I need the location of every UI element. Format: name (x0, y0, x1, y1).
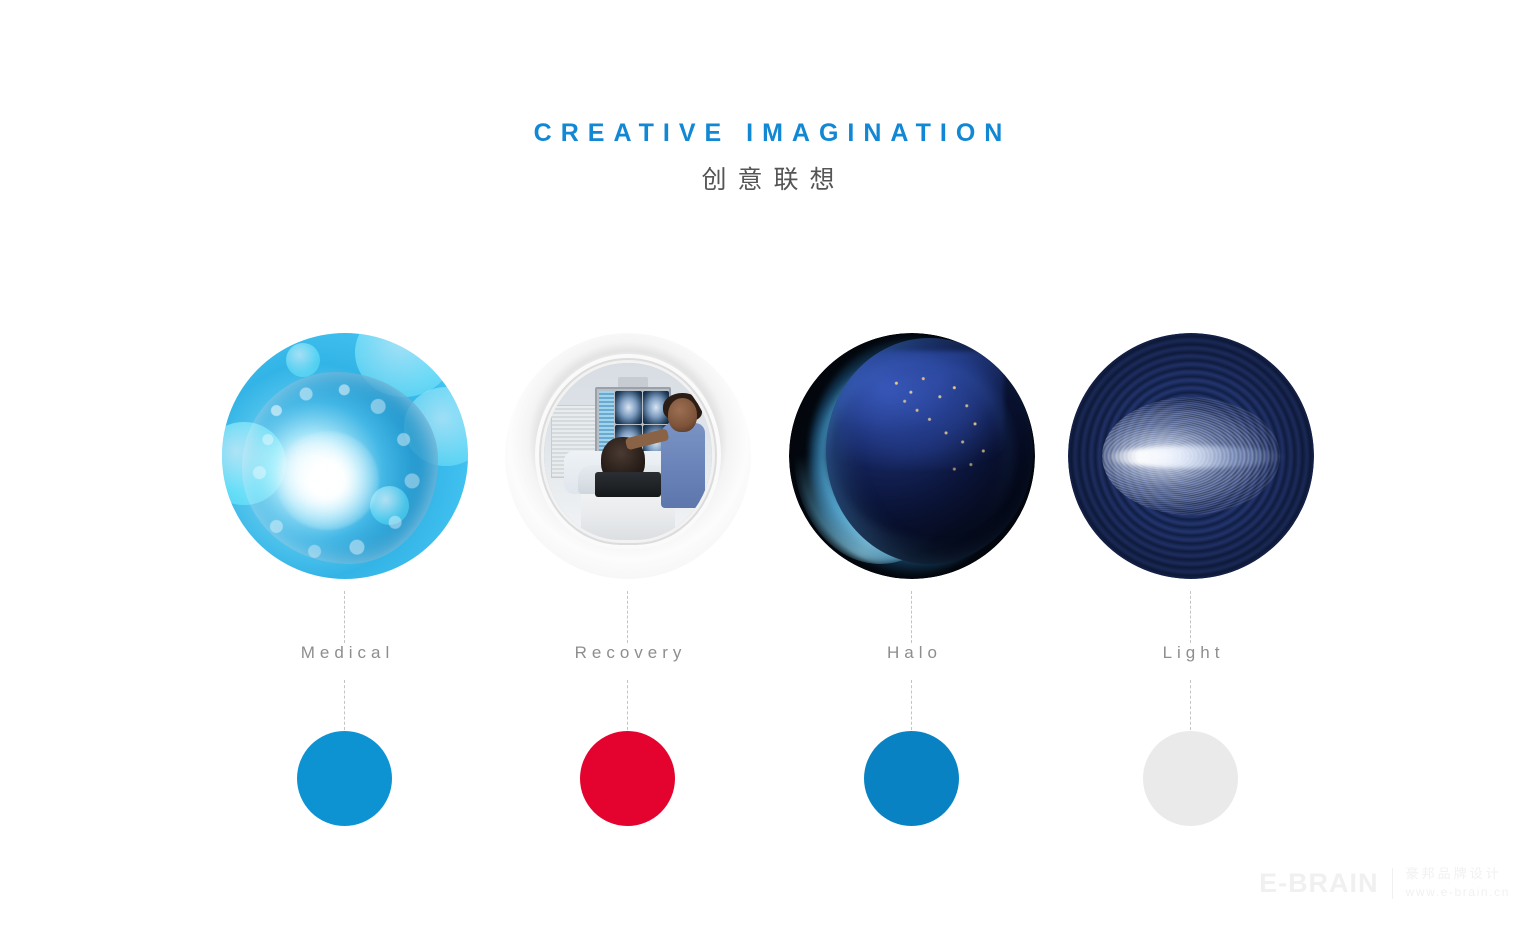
watermark-logo: E-BRAIN 豪邦品牌设计 www.e-brain.cn (1259, 868, 1510, 899)
ct-scanner-patient-nurse-image (505, 333, 751, 579)
page-title: CREATIVE IMAGINATION (0, 118, 1536, 148)
earth-at-night-halo-image (789, 333, 1035, 579)
blue-cells-microscopy-image (222, 333, 468, 579)
concept-column-halo: Halo (789, 333, 1035, 833)
concept-columns: Medical (222, 333, 1314, 833)
watermark-url: www.e-brain.cn (1406, 886, 1510, 899)
connector-dotted-bottom (911, 680, 913, 730)
color-swatch-halo[interactable] (864, 731, 959, 826)
concentric-light-rings-image (1068, 333, 1314, 579)
color-swatch-medical[interactable] (297, 731, 392, 826)
connector-dotted-top (911, 591, 913, 643)
watermark-divider (1392, 868, 1393, 899)
connector-dotted-top (1190, 591, 1192, 643)
connector-dotted-top (627, 591, 629, 643)
connector-dotted-bottom (1190, 680, 1192, 730)
watermark-brand: E-BRAIN (1259, 870, 1379, 897)
page-header: CREATIVE IMAGINATION 创意联想 (0, 118, 1536, 196)
concept-label-light: Light (1068, 643, 1314, 663)
concept-column-recovery: Recovery (505, 333, 751, 833)
connector-dotted-bottom (344, 680, 346, 730)
page-subtitle: 创意联想 (0, 160, 1536, 196)
connector-dotted-bottom (627, 680, 629, 730)
concept-label-medical: Medical (222, 643, 468, 663)
color-swatch-recovery[interactable] (580, 731, 675, 826)
concept-label-halo: Halo (789, 643, 1035, 663)
color-swatch-light[interactable] (1143, 731, 1238, 826)
concept-label-recovery: Recovery (505, 643, 751, 663)
connector-dotted-top (344, 591, 346, 643)
watermark-company-cn: 豪邦品牌设计 (1406, 868, 1510, 882)
concept-column-light: Light (1068, 333, 1314, 833)
concept-column-medical: Medical (222, 333, 468, 833)
